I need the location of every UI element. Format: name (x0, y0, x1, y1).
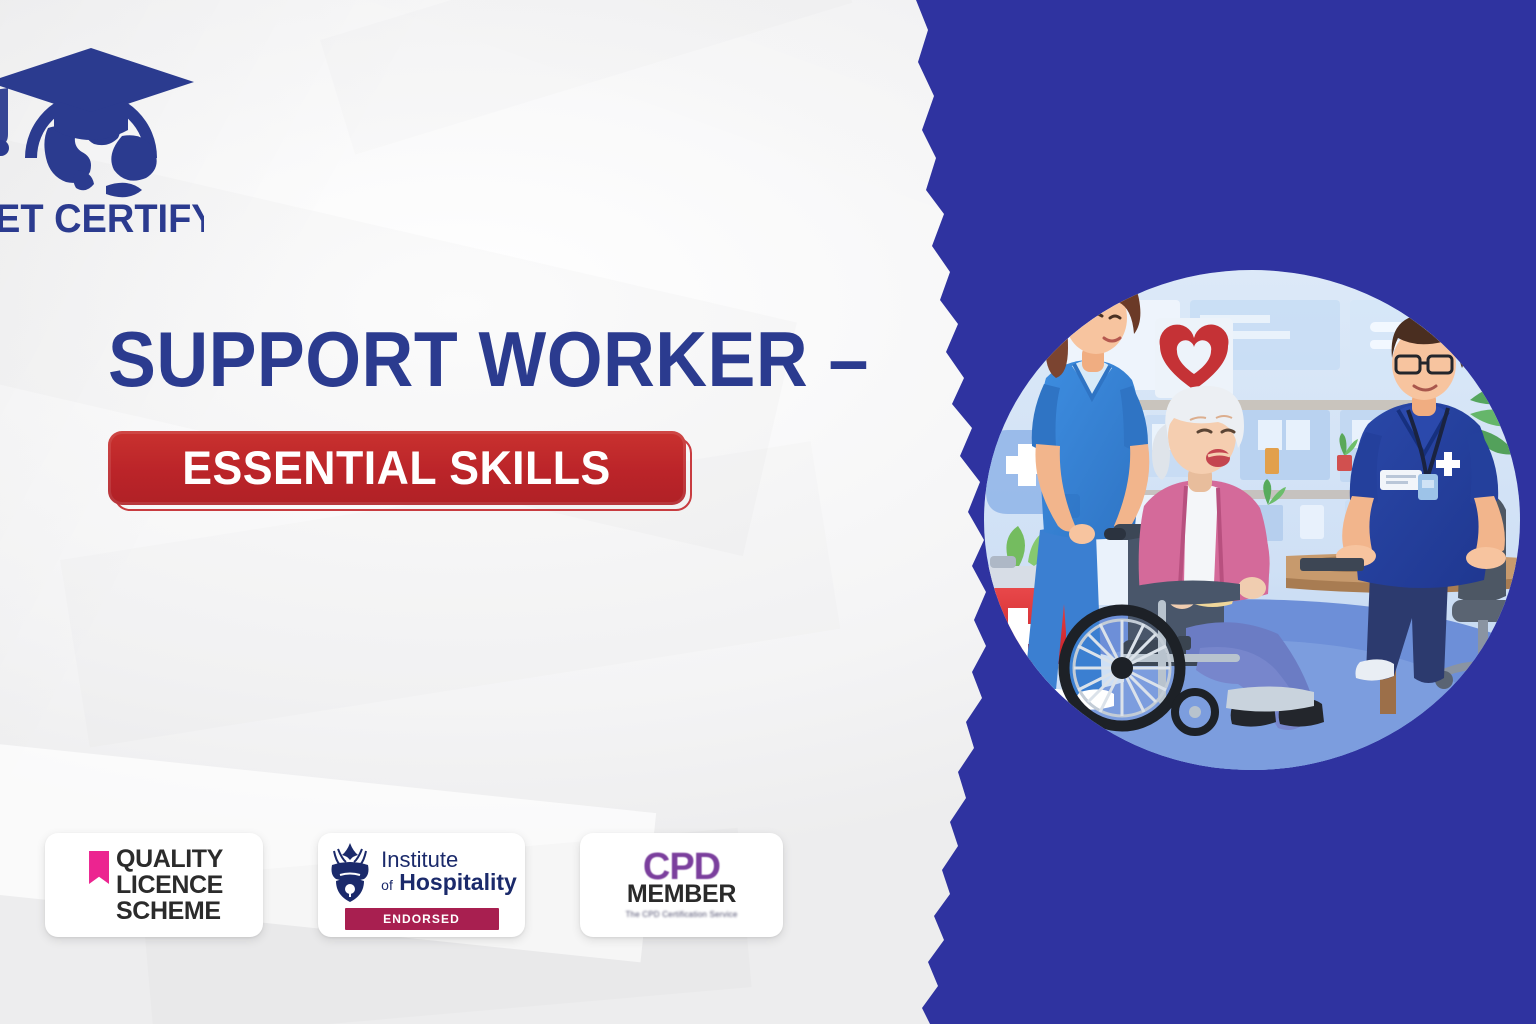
heraldic-crest-icon (326, 841, 374, 903)
qls-line-3: SCHEME (116, 898, 223, 924)
accreditation-card-quality-licence-scheme[interactable]: QUALITY LICENCE SCHEME (45, 833, 263, 937)
ioh-line-2: of Hospitality (381, 871, 517, 894)
accreditation-row: QUALITY LICENCE SCHEME (45, 833, 783, 937)
brand-logo[interactable]: GET CERTIFY (0, 28, 204, 240)
accreditation-card-cpd-member[interactable]: CPD MEMBER The CPD Certification Service (580, 833, 783, 937)
banner-canvas: GET CERTIFY SUPPORT WORKER – ESSENTIAL S… (0, 0, 1536, 1024)
ioh-hospitality: Hospitality (399, 869, 517, 895)
qls-line-1: QUALITY (116, 846, 223, 872)
ioh-line-1: Institute (381, 849, 517, 871)
accreditation-card-institute-of-hospitality[interactable]: Institute of Hospitality ENDORSED (318, 833, 525, 937)
cpd-member-label: MEMBER (627, 882, 736, 907)
qls-label: QUALITY LICENCE SCHEME (116, 846, 223, 924)
subtitle-text: ESSENTIAL SKILLS (183, 440, 612, 495)
bookmark-ribbon-icon (89, 851, 109, 884)
ioh-label: Institute of Hospitality (381, 849, 517, 894)
page-title: SUPPORT WORKER – (108, 322, 835, 397)
qls-line-2: LICENCE (116, 872, 223, 898)
cpd-service-text: The CPD Certification Service (625, 910, 737, 920)
endorsed-ribbon: ENDORSED (345, 908, 499, 930)
logo-wordmark: GET CERTIFY (0, 197, 204, 240)
headline-block: SUPPORT WORKER – ESSENTIAL SKILLS (108, 322, 898, 509)
badge-fill: ESSENTIAL SKILLS (108, 431, 686, 505)
subtitle-badge: ESSENTIAL SKILLS (108, 431, 688, 509)
ioh-of: of (381, 877, 393, 893)
